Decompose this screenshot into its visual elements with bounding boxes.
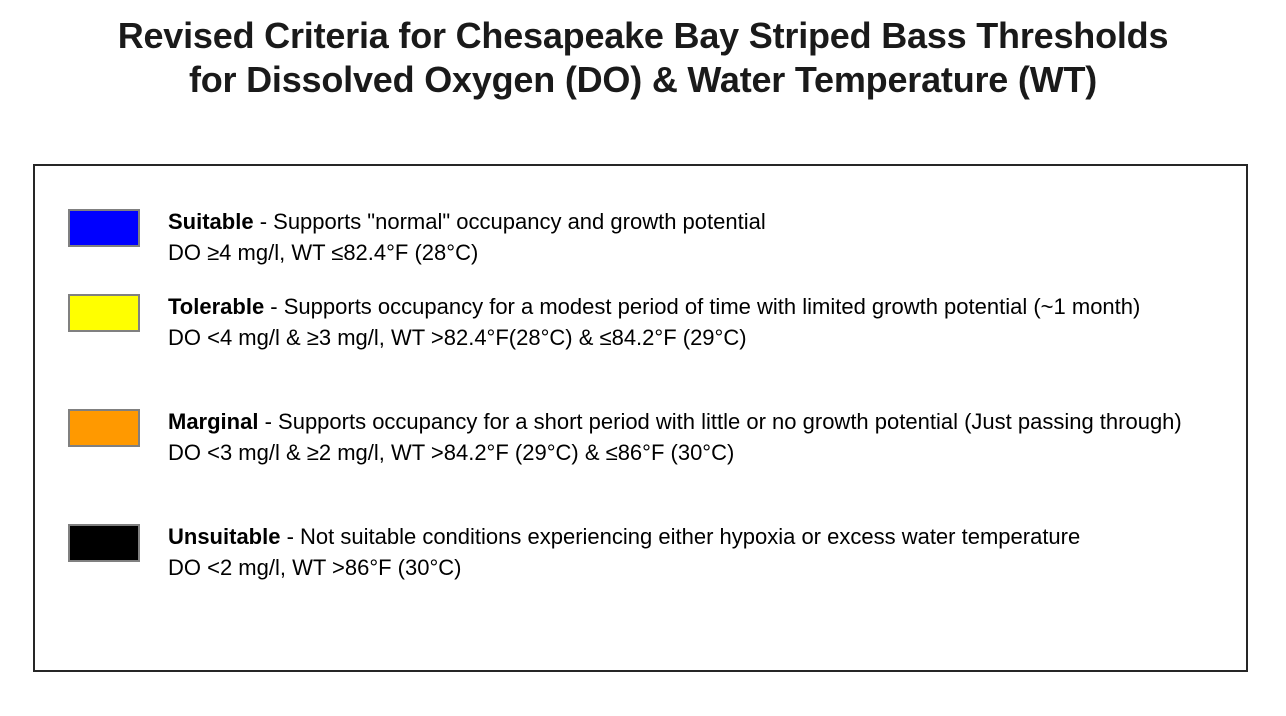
legend-description: Supports occupancy for a short period wi… — [278, 409, 1182, 434]
legend-term: Suitable — [168, 209, 254, 234]
legend-conditions: DO <2 mg/l, WT >86°F (30°C) — [168, 552, 1224, 583]
legend-item-text: Unsuitable - Not suitable conditions exp… — [168, 521, 1224, 583]
legend-conditions: DO <3 mg/l & ≥2 mg/l, WT >84.2°F (29°C) … — [168, 437, 1224, 468]
legend-separator: - — [280, 524, 300, 549]
legend-term: Marginal — [168, 409, 258, 434]
legend-item-text: Tolerable - Supports occupancy for a mod… — [168, 291, 1224, 353]
legend-conditions: DO <4 mg/l & ≥3 mg/l, WT >82.4°F(28°C) &… — [168, 322, 1224, 353]
legend-description: Not suitable conditions experiencing eit… — [300, 524, 1080, 549]
legend-description: Supports "normal" occupancy and growth p… — [273, 209, 766, 234]
legend-description: Supports occupancy for a modest period o… — [284, 294, 1141, 319]
legend-separator: - — [258, 409, 278, 434]
color-swatch-black — [68, 524, 140, 562]
legend-separator: - — [264, 294, 284, 319]
legend-item-text: Suitable - Supports "normal" occupancy a… — [168, 206, 1224, 268]
page-title: Revised Criteria for Chesapeake Bay Stri… — [0, 14, 1286, 102]
color-swatch-orange — [68, 409, 140, 447]
legend-panel: Suitable - Supports "normal" occupancy a… — [33, 164, 1248, 672]
legend-conditions: DO ≥4 mg/l, WT ≤82.4°F (28°C) — [168, 237, 1224, 268]
legend-item-text: Marginal - Supports occupancy for a shor… — [168, 406, 1224, 468]
legend-term: Tolerable — [168, 294, 264, 319]
legend-separator: - — [254, 209, 274, 234]
legend-term: Unsuitable — [168, 524, 280, 549]
color-swatch-blue — [68, 209, 140, 247]
color-swatch-yellow — [68, 294, 140, 332]
page-title-line-1: Revised Criteria for Chesapeake Bay Stri… — [0, 14, 1286, 58]
page-title-line-2: for Dissolved Oxygen (DO) & Water Temper… — [0, 58, 1286, 102]
